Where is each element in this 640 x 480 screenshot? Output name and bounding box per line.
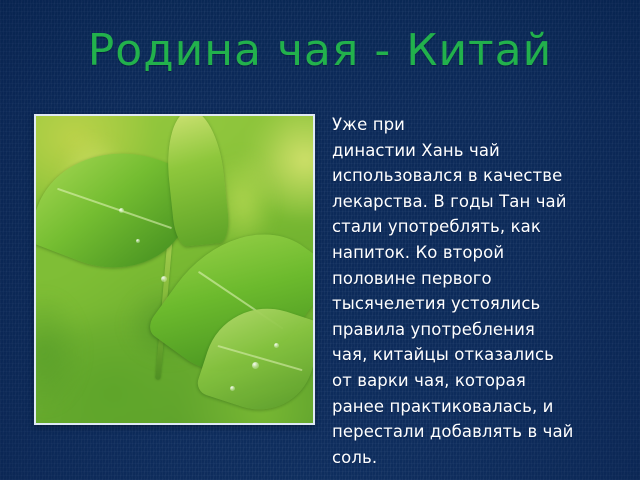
dew-drop [252, 362, 259, 369]
tea-leaf-photo [34, 114, 315, 425]
presentation-slide: Родина чая - Китай Уже при династии Хань… [0, 0, 640, 480]
slide-body-text: Уже при династии Хань чай использовался … [332, 112, 604, 470]
dew-drop [161, 276, 167, 282]
tea-leaf-photo-image [36, 116, 313, 423]
dew-drop [136, 239, 140, 243]
slide-title: Родина чая - Китай [0, 24, 640, 78]
